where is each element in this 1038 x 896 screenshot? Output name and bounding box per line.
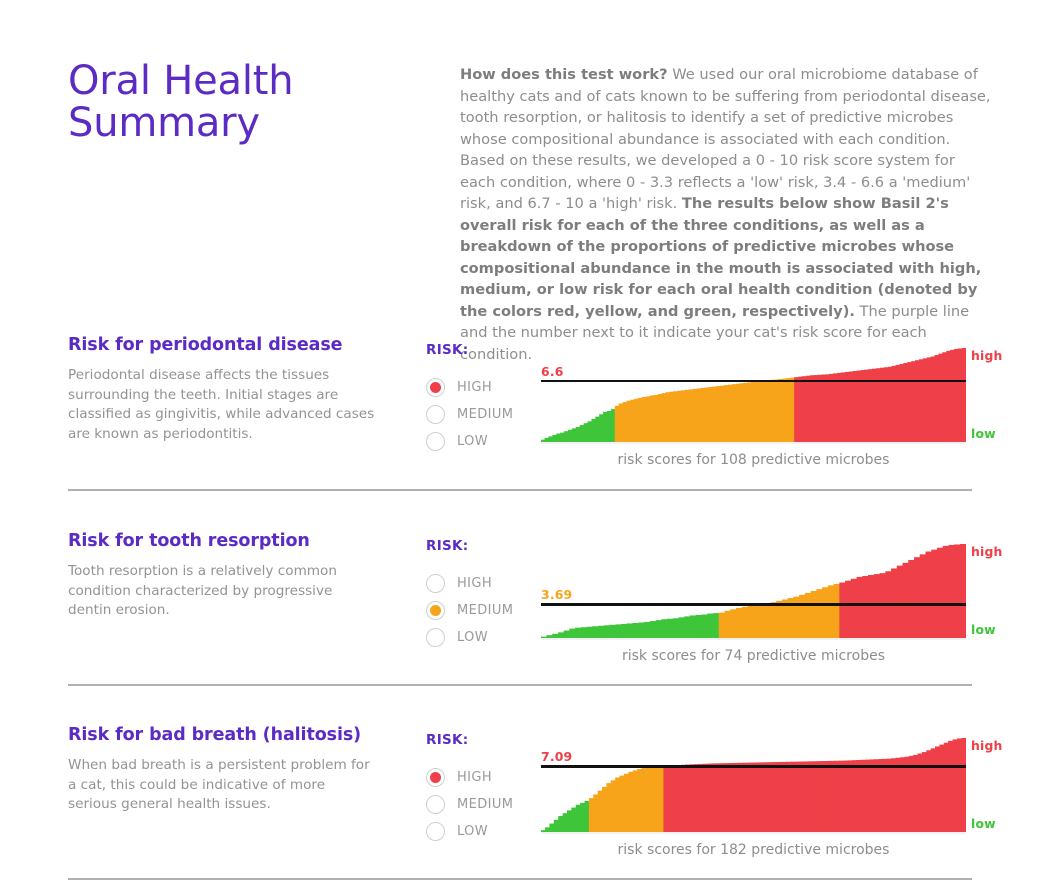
chart-plot-area [541, 738, 966, 832]
score-threshold-line [541, 603, 966, 605]
chart-baseline [541, 832, 966, 834]
risk-chart: 3.69highlowrisk scores for 74 predictive… [541, 536, 971, 686]
risk-radio-high[interactable]: HIGH [426, 570, 546, 597]
section-title: Risk for periodontal disease [68, 334, 388, 356]
risk-chart: 7.09highlowrisk scores for 182 predictiv… [541, 730, 971, 880]
risk-group-label: RISK: [426, 342, 546, 358]
section-description: When bad breath is a persistent problem … [68, 756, 378, 815]
radio-circle-medium-icon[interactable] [426, 601, 445, 620]
risk-radio-label: HIGH [457, 380, 492, 395]
risk-radio-label: LOW [457, 630, 488, 645]
intro-text-1: We used our oral microbiome database of … [460, 66, 991, 212]
radio-circle-high-icon[interactable] [426, 768, 445, 787]
radio-circle-medium-icon[interactable] [426, 405, 445, 424]
section-divider [68, 684, 972, 686]
chart-caption: risk scores for 108 predictive microbes [541, 452, 966, 468]
chart-plot-area [541, 544, 966, 638]
intro-question-bold: How does this test work? [460, 66, 668, 83]
section-divider [68, 878, 972, 880]
axis-label-high: high [971, 348, 1003, 363]
chart-plot-area [541, 348, 966, 442]
axis-label-low: low [971, 622, 996, 637]
intro-results-bold: The results below show Basil 2's overall… [460, 195, 981, 320]
risk-selector-group: RISK:HIGHMEDIUMLOW [426, 538, 546, 651]
risk-radio-label: HIGH [457, 576, 492, 591]
section-description: Tooth resorption is a relatively common … [68, 562, 378, 621]
section-title: Risk for bad breath (halitosis) [68, 724, 388, 746]
risk-radio-low[interactable]: LOW [426, 428, 546, 455]
intro-paragraph: How does this test work? We used our ora… [460, 64, 992, 365]
risk-radio-label: MEDIUM [457, 797, 513, 812]
chart-caption: risk scores for 182 predictive microbes [541, 842, 966, 858]
oral-health-summary-page: Oral Health Summary How does this test w… [0, 0, 1038, 896]
score-value-label: 7.09 [541, 749, 572, 764]
score-threshold-line [541, 765, 966, 767]
score-value-label: 3.69 [541, 587, 572, 602]
score-value-label: 6.6 [541, 364, 564, 379]
risk-radio-medium[interactable]: MEDIUM [426, 791, 546, 818]
risk-radio-low[interactable]: LOW [426, 624, 546, 651]
radio-circle-high-icon[interactable] [426, 574, 445, 593]
risk-selector-group: RISK:HIGHMEDIUMLOW [426, 342, 546, 455]
risk-distribution-area-chart [541, 544, 966, 638]
risk-radio-label: MEDIUM [457, 407, 513, 422]
risk-distribution-area-chart [541, 348, 966, 442]
axis-label-high: high [971, 544, 1003, 559]
risk-group-label: RISK: [426, 732, 546, 748]
section-text-column: Risk for periodontal diseasePeriodontal … [68, 334, 388, 444]
page-title: Oral Health Summary [68, 60, 398, 144]
risk-radio-label: HIGH [457, 770, 492, 785]
axis-label-high: high [971, 738, 1003, 753]
risk-radio-high[interactable]: HIGH [426, 764, 546, 791]
radio-circle-low-icon[interactable] [426, 822, 445, 841]
risk-radio-label: MEDIUM [457, 603, 513, 618]
section-title: Risk for tooth resorption [68, 530, 388, 552]
risk-section-1: Risk for periodontal diseasePeriodontal … [0, 334, 1038, 529]
risk-radio-low[interactable]: LOW [426, 818, 546, 845]
radio-circle-medium-icon[interactable] [426, 795, 445, 814]
radio-circle-low-icon[interactable] [426, 628, 445, 647]
axis-label-low: low [971, 426, 996, 441]
section-text-column: Risk for bad breath (halitosis)When bad … [68, 724, 388, 815]
risk-selector-group: RISK:HIGHMEDIUMLOW [426, 732, 546, 845]
chart-baseline [541, 442, 966, 444]
section-description: Periodontal disease affects the tissues … [68, 366, 378, 444]
risk-radio-label: LOW [457, 824, 488, 839]
section-divider [68, 489, 972, 491]
radio-circle-low-icon[interactable] [426, 432, 445, 451]
risk-chart: 6.6highlowrisk scores for 108 predictive… [541, 340, 971, 490]
axis-label-low: low [971, 816, 996, 831]
risk-group-label: RISK: [426, 538, 546, 554]
radio-circle-high-icon[interactable] [426, 378, 445, 397]
chart-baseline [541, 638, 966, 640]
risk-radio-medium[interactable]: MEDIUM [426, 401, 546, 428]
risk-distribution-area-chart [541, 738, 966, 832]
score-threshold-line [541, 380, 966, 382]
chart-caption: risk scores for 74 predictive microbes [541, 648, 966, 664]
risk-section-3: Risk for bad breath (halitosis)When bad … [0, 724, 1038, 896]
risk-radio-label: LOW [457, 434, 488, 449]
risk-radio-medium[interactable]: MEDIUM [426, 597, 546, 624]
risk-section-2: Risk for tooth resorptionTooth resorptio… [0, 530, 1038, 725]
section-text-column: Risk for tooth resorptionTooth resorptio… [68, 530, 388, 621]
risk-radio-high[interactable]: HIGH [426, 374, 546, 401]
